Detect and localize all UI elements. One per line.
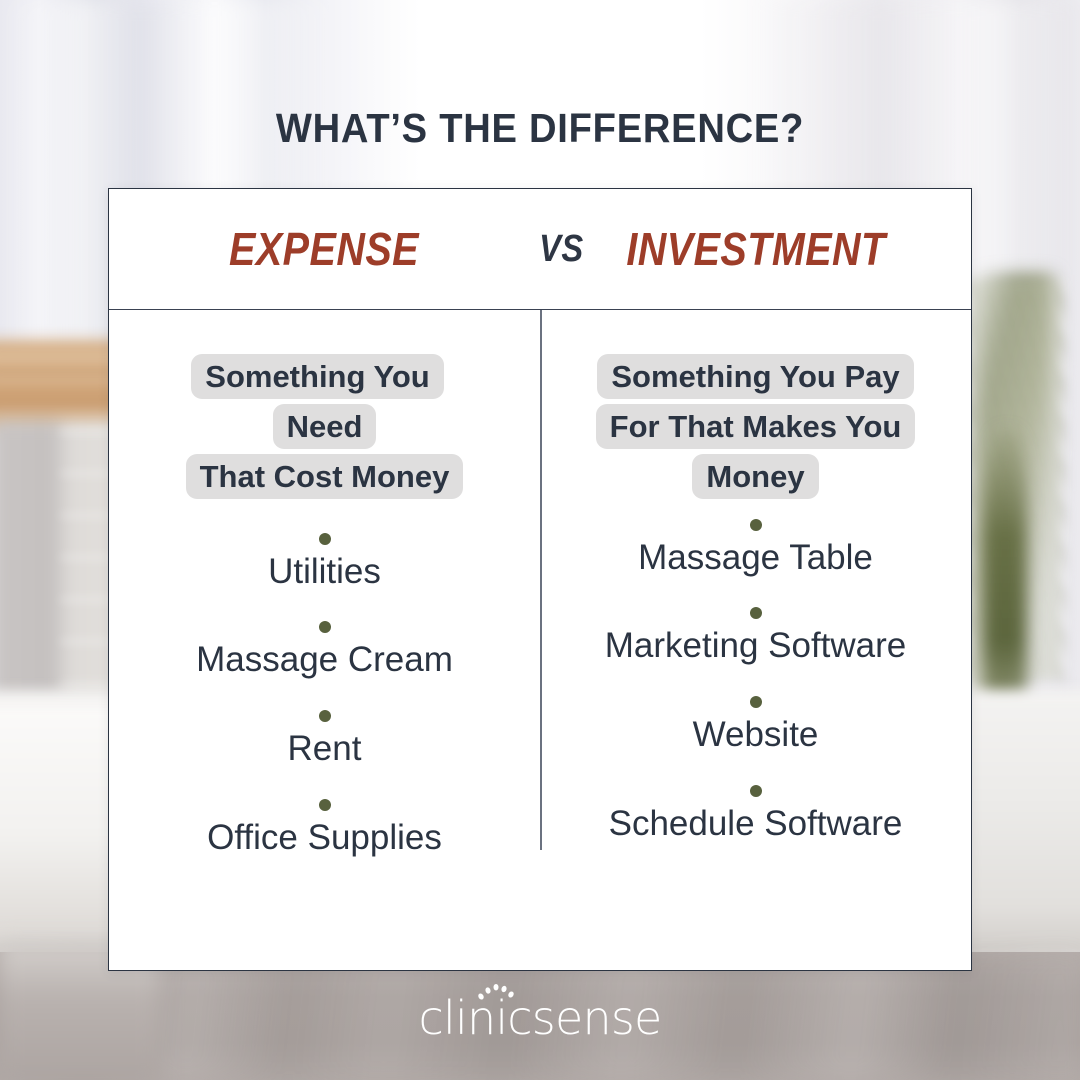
list-item-label: Office Supplies	[109, 820, 540, 857]
list-investment: Massage Table Marketing Software Website	[540, 519, 971, 843]
list-item: Website	[540, 696, 971, 754]
brand-logo: clinicsense	[0, 995, 1080, 1041]
list-item: Office Supplies	[109, 799, 540, 857]
header-label-investment: INVESTMENT	[571, 222, 941, 276]
list-item: Marketing Software	[540, 607, 971, 665]
column-investment: Something You Pay For That Makes You Mon…	[540, 310, 971, 970]
bullet-icon	[750, 519, 762, 531]
subtitle-investment: Something You Pay For That Makes You Mon…	[580, 352, 932, 503]
logo-dots-icon	[477, 984, 519, 1000]
header-label-vs: VS	[539, 228, 541, 271]
column-expense: Something You Need That Cost Money Utili…	[109, 310, 540, 970]
brand-logo-text: clinicsense	[419, 991, 662, 1045]
list-item-label: Schedule Software	[540, 806, 971, 843]
list-item: Rent	[109, 710, 540, 768]
bullet-icon	[319, 710, 331, 722]
subtitle-investment-line-3: Money	[692, 454, 818, 499]
list-expense: Utilities Massage Cream Rent Office	[109, 533, 540, 857]
subtitle-expense-line-1: Something You Need	[191, 354, 443, 449]
subtitle-expense-line-2: That Cost Money	[186, 454, 464, 499]
subtitle-investment-line-2: For That Makes You	[596, 404, 916, 449]
bullet-icon	[750, 696, 762, 708]
page-title: WHAT’S THE DIFFERENCE?	[38, 105, 1042, 152]
list-item-label: Rent	[109, 731, 540, 768]
bullet-icon	[319, 533, 331, 545]
comparison-header-row: EXPENSE VS INVESTMENT	[109, 189, 971, 310]
bullet-icon	[319, 621, 331, 633]
bullet-icon	[319, 799, 331, 811]
subtitle-expense: Something You Need That Cost Money	[160, 352, 490, 503]
list-item: Massage Cream	[109, 621, 540, 679]
list-item-label: Massage Cream	[109, 642, 540, 679]
list-item: Massage Table	[540, 519, 971, 577]
bullet-icon	[750, 607, 762, 619]
list-item-label: Website	[540, 717, 971, 754]
list-item: Utilities	[109, 533, 540, 591]
header-label-expense: EXPENSE	[139, 222, 509, 276]
bullet-icon	[750, 785, 762, 797]
list-item-label: Massage Table	[540, 540, 971, 577]
list-item-label: Utilities	[109, 554, 540, 591]
comparison-card: EXPENSE VS INVESTMENT Something You Need…	[108, 188, 972, 971]
list-item-label: Marketing Software	[540, 628, 971, 665]
list-item: Schedule Software	[540, 785, 971, 843]
subtitle-investment-line-1: Something You Pay	[597, 354, 913, 399]
comparison-body: Something You Need That Cost Money Utili…	[109, 310, 971, 970]
